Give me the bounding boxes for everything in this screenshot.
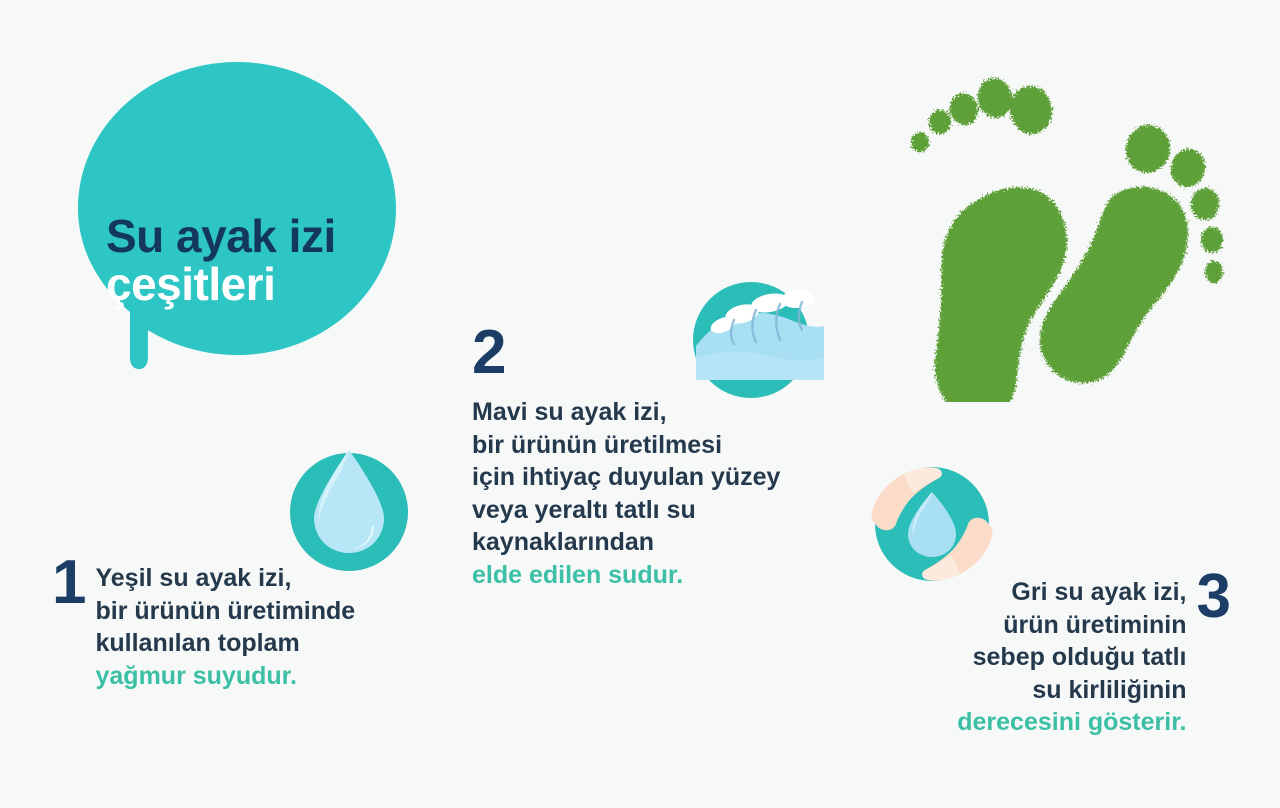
infographic-canvas: Su ayak izi çeşitleri — [0, 0, 1280, 808]
grass-footprints-icon — [898, 62, 1228, 402]
item-3-line-4: su kirliliğinin — [957, 674, 1186, 707]
item-2-line-3: için ihtiyaç duyulan yüzey — [472, 461, 842, 494]
item-1-accent-line: yağmur suyudur. — [95, 660, 355, 693]
item-2-line-5: kaynaklarından — [472, 526, 842, 559]
item-block-1: 1 Yeşil su ayak izi, bir ürünün üretimin… — [52, 540, 452, 692]
title-line-secondary: çeşitleri — [106, 262, 396, 306]
item-2-accent-line: elde edilen sudur. — [472, 559, 842, 592]
item-1-line-2: bir ürünün üretiminde — [95, 595, 355, 628]
page-title: Su ayak izi çeşitleri — [106, 214, 396, 306]
item-text-2: Mavi su ayak izi, bir ürünün üretilmesi … — [472, 396, 842, 591]
item-block-2: 2 Mavi su ayak izi, bir ürünün üretilmes… — [472, 322, 842, 591]
item-block-3: Gri su ayak izi, ürün üretiminin sebep o… — [880, 556, 1230, 739]
title-line-primary: Su ayak izi — [106, 214, 396, 258]
item-1-line-1: Yeşil su ayak izi, — [95, 562, 355, 595]
item-text-1: Yeşil su ayak izi, bir ürünün üretiminde… — [95, 540, 355, 692]
item-text-3: Gri su ayak izi, ürün üretiminin sebep o… — [957, 556, 1186, 739]
item-3-line-2: ürün üretiminin — [957, 609, 1186, 642]
item-2-line-2: bir ürünün üretilmesi — [472, 429, 842, 462]
item-number-3: 3 — [1197, 566, 1230, 628]
item-3-accent-line: derecesini gösterir. — [957, 706, 1186, 739]
item-2-line-4: veya yeraltı tatlı su — [472, 494, 842, 527]
item-number-1: 1 — [52, 552, 85, 614]
item-2-line-1: Mavi su ayak izi, — [472, 396, 842, 429]
item-number-2: 2 — [472, 322, 842, 384]
title-speech-bubble: Su ayak izi çeşitleri — [78, 62, 396, 372]
item-3-line-3: sebep olduğu tatlı — [957, 641, 1186, 674]
item-1-line-3: kullanılan toplam — [95, 627, 355, 660]
item-3-line-1: Gri su ayak izi, — [957, 576, 1186, 609]
